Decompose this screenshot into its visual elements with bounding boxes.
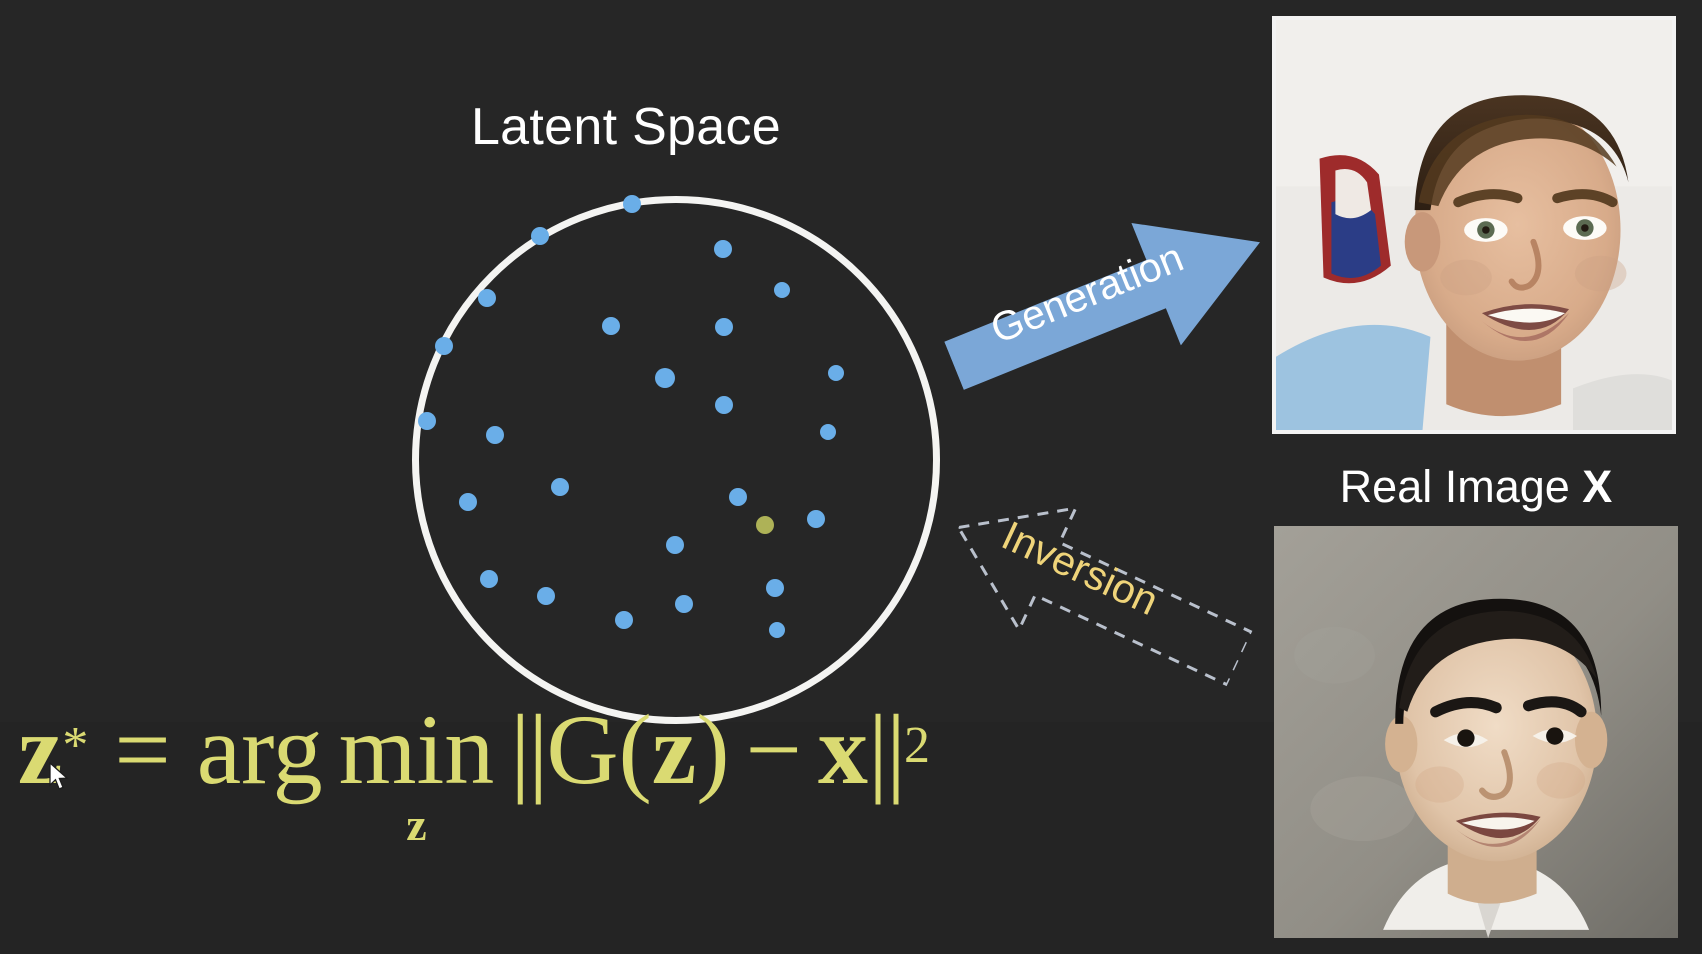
latent-dot — [531, 227, 549, 245]
latent-dot — [666, 536, 684, 554]
formula-equals: = — [114, 700, 170, 800]
latent-dot — [807, 510, 825, 528]
generated-face-icon — [1276, 20, 1672, 430]
formula-norm-open: || — [510, 700, 546, 800]
generated-image-thumbnail[interactable] — [1272, 16, 1676, 434]
latent-dot — [478, 289, 496, 307]
latent-dot — [774, 282, 790, 298]
formula-exponent: 2 — [904, 720, 930, 772]
real-image-thumbnail[interactable] — [1274, 526, 1678, 938]
formula-star: * — [62, 720, 88, 772]
latent-dot — [675, 595, 693, 613]
latent-dot — [729, 488, 747, 506]
formula-arg: arg — [197, 700, 323, 800]
real-image-label: Real Image X — [1274, 461, 1678, 513]
formula-z-inner: z — [652, 700, 696, 800]
latent-dot — [769, 622, 785, 638]
latent-dot — [435, 337, 453, 355]
real-image-label-prefix: Real Image — [1340, 461, 1583, 512]
latent-dot — [551, 478, 569, 496]
latent-dot — [459, 493, 477, 511]
latent-dot — [602, 317, 620, 335]
slide-canvas: Latent Space Generation Inversion — [0, 0, 1702, 954]
latent-dot — [715, 396, 733, 414]
formula-min-subscript: z — [406, 802, 426, 848]
latent-dot — [714, 240, 732, 258]
latent-dot — [766, 579, 784, 597]
latent-dot — [820, 424, 836, 440]
real-face-icon — [1274, 526, 1678, 938]
latent-dot-selected — [756, 516, 774, 534]
formula-paren-open: ( — [619, 700, 652, 800]
latent-dot — [828, 365, 844, 381]
objective-formula: z* = arg min z || G ( z ) − x ||2 — [18, 700, 930, 848]
latent-dot — [715, 318, 733, 336]
latent-dot — [418, 412, 436, 430]
latent-dot — [537, 587, 555, 605]
latent-space-circle — [412, 196, 940, 724]
formula-paren-close: ) — [696, 700, 729, 800]
real-image-label-symbol: X — [1582, 461, 1612, 512]
latent-dot — [655, 368, 675, 388]
formula-argmin: min z — [339, 700, 495, 848]
formula-minus: − — [746, 700, 802, 800]
latent-dot — [486, 426, 504, 444]
page-title: Latent Space — [316, 97, 936, 157]
formula-generator: G — [546, 700, 618, 800]
latent-dot — [623, 195, 641, 213]
latent-dot — [480, 570, 498, 588]
formula-norm-close: || — [868, 700, 904, 800]
formula-x: x — [818, 700, 868, 800]
formula-min: min — [339, 700, 495, 800]
formula-z: z — [18, 700, 62, 800]
latent-dot — [615, 611, 633, 629]
